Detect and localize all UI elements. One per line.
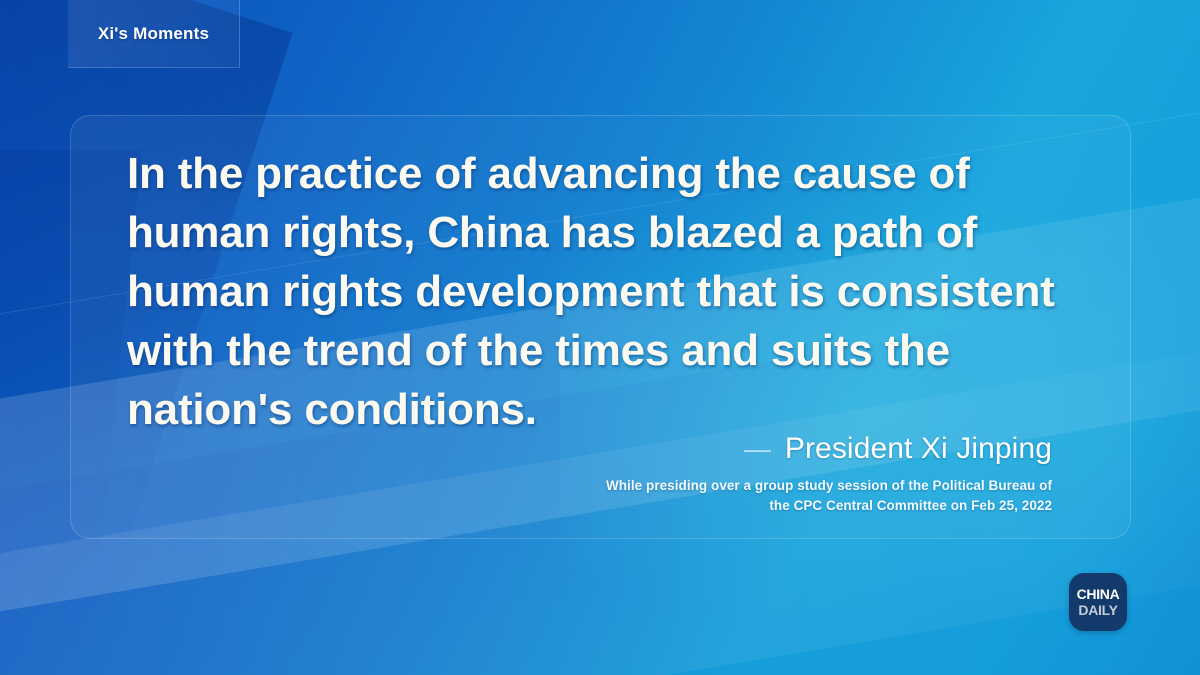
attribution-context-line-1: While presiding over a group study sessi… <box>606 476 1052 496</box>
attribution-name-line: — President Xi Jinping <box>606 432 1052 466</box>
attribution-context: While presiding over a group study sessi… <box>606 476 1052 516</box>
attribution-author-name: President Xi Jinping <box>785 432 1052 466</box>
quote-card: In the practice of advancing the cause o… <box>70 115 1131 539</box>
header-badge-label: Xi's Moments <box>98 24 209 44</box>
china-daily-logo: CHINA DAILY <box>1069 573 1127 631</box>
attribution-block: — President Xi Jinping While presiding o… <box>606 432 1052 516</box>
em-dash-glyph: — <box>744 436 771 463</box>
logo-text-daily: DAILY <box>1078 603 1117 618</box>
logo-text-china: CHINA <box>1077 587 1120 602</box>
attribution-context-line-2: the CPC Central Committee on Feb 25, 202… <box>606 496 1052 516</box>
quote-body-text: In the practice of advancing the cause o… <box>127 144 1087 439</box>
header-badge: Xi's Moments <box>68 0 240 68</box>
poster-canvas: Xi's Moments In the practice of advancin… <box>0 0 1200 675</box>
